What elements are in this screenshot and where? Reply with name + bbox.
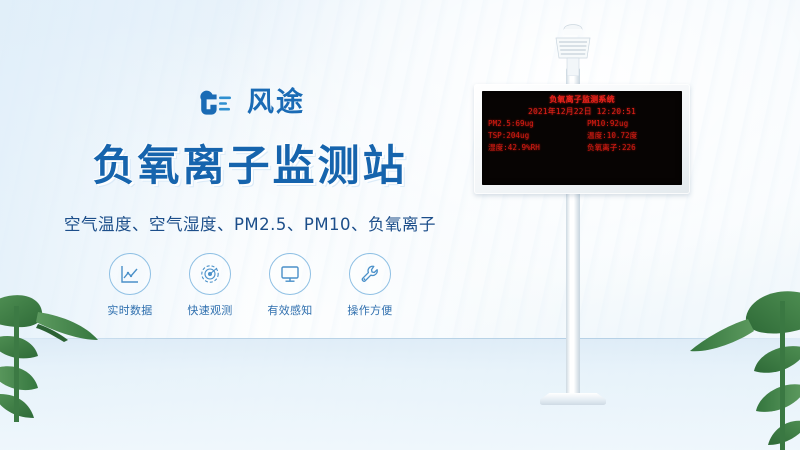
feature-item-easy-operation: 操作方便 xyxy=(343,253,397,318)
page-subtitle: 空气温度、空气湿度、PM2.5、PM10、负氧离子 xyxy=(0,211,500,235)
pole-base-flange xyxy=(540,393,606,405)
monitor-icon xyxy=(269,253,311,295)
radar-signal-icon xyxy=(189,253,231,295)
led-screen: 负氧离子监测系统 2021年12月22日 12:20:51 PM2.5:69ug… xyxy=(482,91,682,185)
hero-text-block: 风途 负氧离子监测站 空气温度、空气湿度、PM2.5、PM10、负氧离子 实时数… xyxy=(0,86,500,318)
wrench-icon xyxy=(349,253,391,295)
page-title: 负氧离子监测站 xyxy=(0,132,500,193)
brand-logo: 风途 xyxy=(0,86,500,120)
hero-banner: 负氧离子监测系统 2021年12月22日 12:20:51 PM2.5:69ug… xyxy=(0,0,800,450)
display-title: 负氧离子监测系统 xyxy=(488,95,676,105)
feature-label: 快速观测 xyxy=(183,302,237,318)
reading-temperature: 温度:10.72度 xyxy=(583,131,676,141)
feature-label: 实时数据 xyxy=(103,302,157,318)
reading-humidity: 湿度:42.9%RH xyxy=(488,143,581,153)
cloud-g-logo-icon xyxy=(195,88,239,118)
display-readings: PM2.5:69ug PM10:92ug TSP:204ug 温度:10.72度… xyxy=(488,119,676,153)
feature-item-realtime-data: 实时数据 xyxy=(103,253,157,318)
line-chart-icon xyxy=(109,253,151,295)
display-datetime: 2021年12月22日 12:20:51 xyxy=(488,106,676,117)
feature-item-fast-observation: 快速观测 xyxy=(183,253,237,318)
reading-pm10: PM10:92ug xyxy=(583,119,676,129)
feature-label: 操作方便 xyxy=(343,302,397,318)
feature-list: 实时数据 快速观测 xyxy=(0,253,500,318)
radiation-shield-sensor-icon xyxy=(547,22,599,76)
plant-right xyxy=(684,285,800,450)
reading-negative-ions: 负氧离子:226 xyxy=(583,143,676,153)
feature-item-effective-sensing: 有效感知 xyxy=(263,253,317,318)
reading-tsp: TSP:204ug xyxy=(488,131,581,141)
feature-label: 有效感知 xyxy=(263,302,317,318)
brand-name: 风途 xyxy=(247,88,305,118)
led-display-panel: 负氧离子监测系统 2021年12月22日 12:20:51 PM2.5:69ug… xyxy=(474,84,690,194)
reading-pm25: PM2.5:69ug xyxy=(488,119,581,129)
